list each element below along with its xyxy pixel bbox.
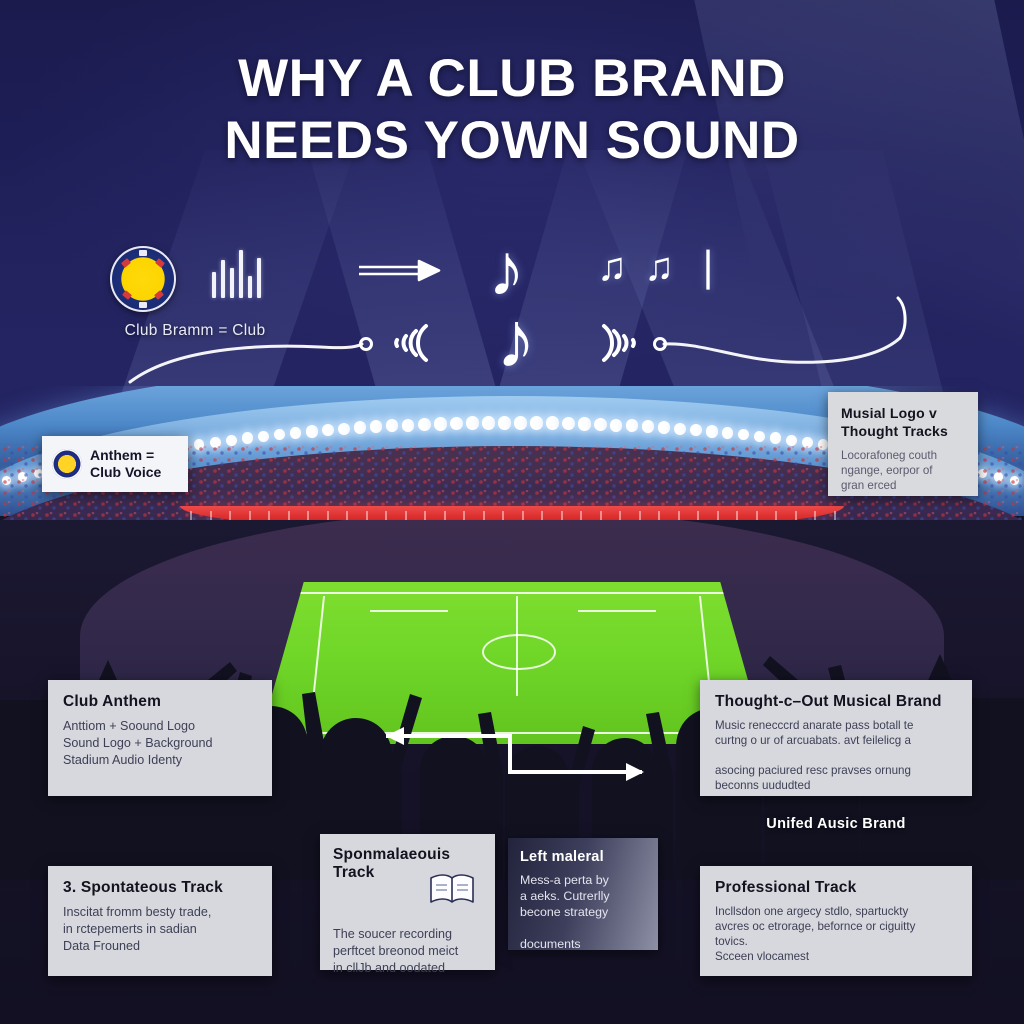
floodlight-bulb (258, 431, 270, 443)
floodlight-bulb (482, 416, 496, 430)
floodlight-bulb (498, 416, 512, 430)
title-line-2: NEEDS YOWN SOUND (0, 110, 1024, 172)
floodlight-bulb (610, 419, 623, 432)
card-left-material-title: Left maleral (520, 849, 646, 865)
floodlight-bulb (354, 421, 367, 434)
card-club-anthem-body: Anttiom + Soound Logo Sound Logo + Backg… (63, 718, 257, 769)
floodlight-bulb (242, 432, 253, 443)
floodlight-bulb (738, 429, 750, 441)
floodlight-bulb (306, 425, 318, 437)
card-left-material-body: Mess-a perta by a aeks. Cutrerlly becone… (520, 872, 646, 952)
card-sponmalaeouis-track[interactable]: Sponmalaeouis Track The soucer recording… (320, 834, 495, 970)
floodlight-bulb (770, 432, 781, 443)
right-arrow-icon (357, 258, 445, 284)
music-note-icon: ♪ (496, 300, 536, 380)
page-title: WHY A CLUB BRAND NEEDS YOWN SOUND (0, 48, 1024, 172)
unified-music-brand-label: Unifed Ausic Brand (700, 816, 972, 832)
floodlight-bulb (514, 416, 528, 430)
card-thought-out-body: Music renecccrd anarate pass botall te c… (715, 718, 957, 793)
card-spontateous-title: 3. Spontateous Track (63, 879, 257, 897)
floodlight-bulb (338, 423, 350, 435)
card-musical-logo-title: Musial Logo v Thought Tracks (841, 404, 966, 440)
floodlight-bulb (290, 427, 302, 439)
card-sponmalaeouis-title: Sponmalaeouis Track (333, 846, 433, 882)
floodlight-bulb (786, 435, 797, 446)
floodlight-bulb (322, 424, 334, 436)
card-musical-logo-body: Locorafoneg couth ngange, eorpor of gran… (841, 448, 966, 493)
card-spontateous-body: Inscitat fromm besty trade, in rctepemer… (63, 904, 257, 955)
card-anthem-club-voice-text: Anthem = Club Voice (90, 447, 161, 481)
music-note-group-icon: ♫ ♫ ❘ (597, 247, 728, 287)
card-club-anthem[interactable]: Club Anthem Anttiom + Soound Logo Sound … (48, 680, 272, 796)
flow-arrow-bidirectional (360, 722, 670, 786)
floodlight-bulb (530, 416, 544, 430)
card-musical-logo[interactable]: Musial Logo v Thought Tracks Locorafoneg… (828, 392, 978, 496)
floodlight-bulb (642, 420, 655, 433)
floodlight-bulb (226, 435, 237, 446)
club-crest-icon (110, 246, 176, 312)
floodlight-bulb (562, 417, 575, 430)
floodlight-bulb (434, 417, 447, 430)
club-crest-icon (52, 449, 82, 479)
floodlight-bulb (274, 429, 286, 441)
card-club-anthem-title: Club Anthem (63, 693, 257, 711)
sound-wave-right-icon (596, 318, 658, 368)
floodlight-bulb (754, 431, 766, 443)
club-brand-caption: Club Bramm = Club (85, 322, 305, 340)
floodlight-bulb (594, 418, 607, 431)
card-thought-out-title: Thought-c–Out Musical Brand (715, 693, 957, 711)
title-line-1: WHY A CLUB BRAND (238, 49, 786, 108)
floodlight-bulb (466, 416, 480, 430)
card-left-material[interactable]: Left maleral Mess-a perta by a aeks. Cut… (508, 838, 658, 950)
floodlight-bulb (450, 417, 463, 430)
card-thought-out-musical-brand[interactable]: Thought-c–Out Musical Brand Music renecc… (700, 680, 972, 796)
anthem-line-2: Club Voice (90, 464, 161, 480)
floodlight-bulb (578, 417, 591, 430)
anthem-line-1: Anthem = (90, 447, 154, 463)
card-professional-track[interactable]: Professional Track Incllsdon one argecy … (700, 866, 972, 976)
open-book-icon (429, 872, 475, 906)
floodlight-bulb (626, 419, 639, 432)
sound-wave-left-icon (372, 318, 434, 368)
floodlight-bulb (674, 423, 686, 435)
floodlight-bulb (402, 419, 415, 432)
card-sponmalaeouis-body: The soucer recording perftcet breonod me… (333, 926, 482, 977)
floodlight-bulb (690, 424, 702, 436)
floodlight-bulb (418, 418, 431, 431)
card-spontateous-track[interactable]: 3. Spontateous Track Inscitat fromm best… (48, 866, 272, 976)
floodlight-bulb (658, 421, 671, 434)
floodlight-bulb (386, 419, 399, 432)
card-professional-body: Incllsdon one argecy stdlo, spartuckty a… (715, 904, 957, 964)
card-anthem-club-voice[interactable]: Anthem = Club Voice (42, 436, 188, 492)
card-professional-title: Professional Track (715, 879, 957, 897)
floodlight-bulb (722, 427, 734, 439)
floodlight-bulb (546, 416, 560, 430)
audio-waveform-icon (212, 248, 268, 298)
infographic-canvas: WHY A CLUB BRAND NEEDS YOWN SOUND Club B… (0, 0, 1024, 1024)
floodlight-bulb (370, 420, 383, 433)
floodlight-bulb (706, 425, 718, 437)
